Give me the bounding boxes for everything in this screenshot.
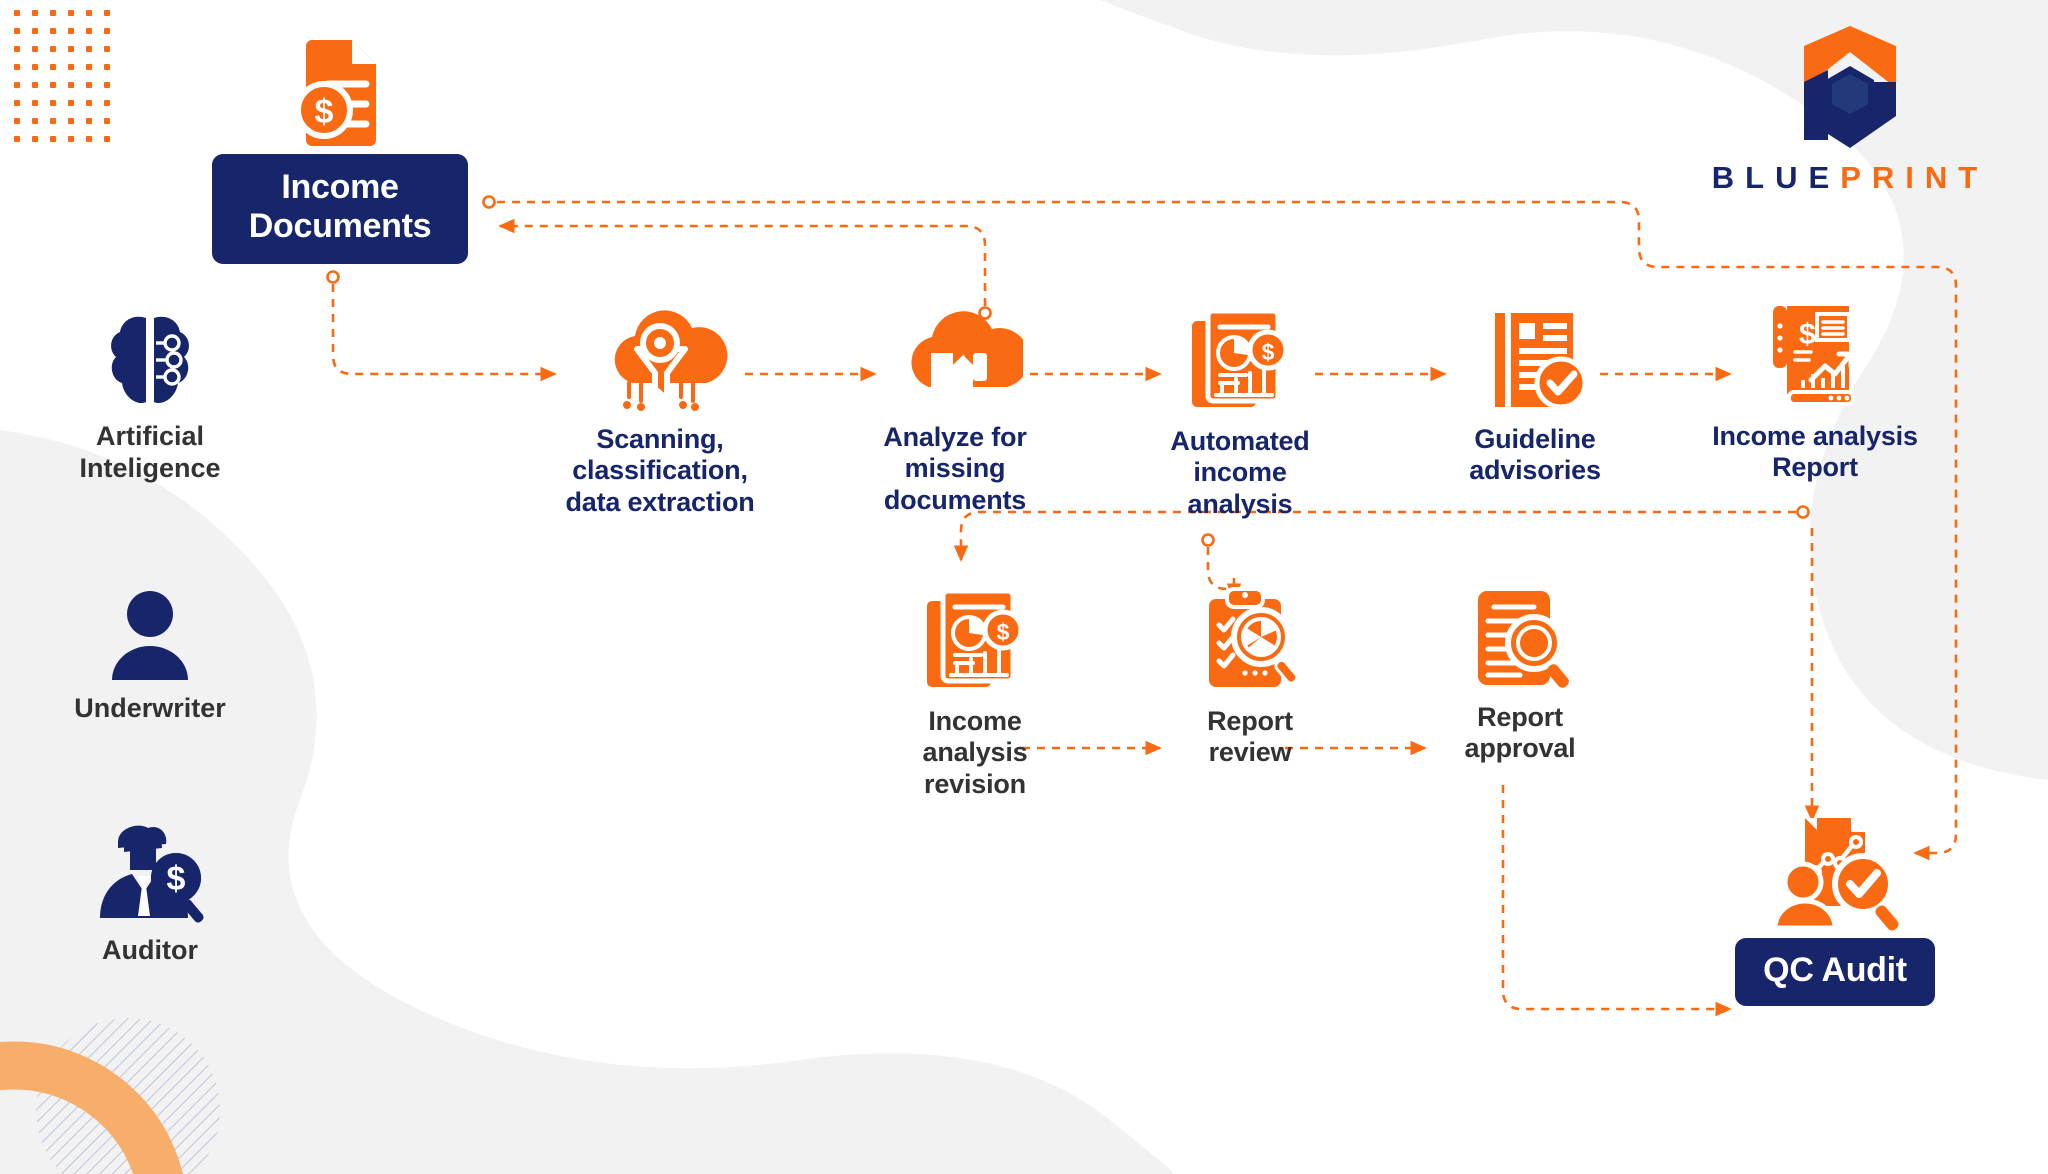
qc-audit-badge[interactable]: QC Audit xyxy=(1735,938,1935,1006)
auditor-magnifier-dollar-icon: $ xyxy=(94,822,206,926)
diagram-canvas: BLUEPRINT Artificial Inteligence Underwr… xyxy=(0,0,2048,1174)
step-label-line: advisories xyxy=(1469,455,1601,485)
persona-auditor[interactable]: $ Auditor xyxy=(40,822,260,966)
step-label-line: analysis xyxy=(1188,489,1293,519)
brain-circuit-icon xyxy=(104,310,196,412)
step-label-line: Analyze for xyxy=(883,422,1026,452)
step-label-line: review xyxy=(1209,737,1292,767)
blueprint-logo: BLUEPRINT xyxy=(1700,22,2000,196)
step-label-line: data extraction xyxy=(565,487,754,517)
svg-text:$: $ xyxy=(315,93,334,131)
step-label-line: missing xyxy=(905,453,1006,483)
step-label-line: Report xyxy=(1207,706,1293,736)
svg-text:$: $ xyxy=(1799,318,1816,351)
report-charts-dollar-icon: $ xyxy=(919,585,1031,697)
step-label-line: Income analysis xyxy=(1712,421,1918,451)
step-label-line: income xyxy=(1193,457,1286,487)
node-income-analysis-revision[interactable]: $ Income analysis revision xyxy=(880,585,1070,800)
svg-text:$: $ xyxy=(1262,339,1275,365)
income-documents-badge[interactable]: Income Documents xyxy=(212,154,468,264)
node-report-approval[interactable]: Report approval xyxy=(1430,585,1610,765)
node-analyze-for-missing-documents[interactable]: Analyze for missing documents xyxy=(855,305,1055,516)
svg-text:$: $ xyxy=(997,619,1010,645)
persona-label-line1: Underwriter xyxy=(74,693,226,723)
document-dollar-icon-wrap: $ xyxy=(292,36,388,148)
report-growth-dollar-icon: $ xyxy=(1759,300,1871,412)
node-automated-income-analysis[interactable]: $ Automated income analysis xyxy=(1145,305,1335,520)
logo-text-blue: BLUE xyxy=(1712,160,1840,196)
step-label-line: Report xyxy=(1477,702,1563,732)
step-label-line: revision xyxy=(924,769,1026,799)
persona-label-line1: Artificial xyxy=(96,421,204,451)
document-check-icon xyxy=(1483,305,1587,415)
svg-text:$: $ xyxy=(167,860,186,898)
node-qc-audit[interactable]: QC Audit xyxy=(1735,810,1935,1006)
person-document-check-magnifier-icon xyxy=(1769,810,1901,934)
node-income-documents[interactable]: $ Income Documents xyxy=(212,36,468,264)
node-guideline-advisories[interactable]: Guideline advisories xyxy=(1440,305,1630,487)
step-label-line: Guideline xyxy=(1474,424,1595,454)
clipboard-checklist-magnifier-icon xyxy=(1195,585,1305,697)
logo-text-print: PRINT xyxy=(1840,160,1988,196)
income-documents-label-line2: Documents xyxy=(249,207,431,245)
step-label-line: Income xyxy=(928,706,1021,736)
document-dollar-icon: $ xyxy=(292,36,388,148)
report-charts-dollar-icon: $ xyxy=(1184,305,1296,417)
cloud-gear-funnel-icon xyxy=(589,305,731,415)
step-label-line: Automated xyxy=(1170,426,1309,456)
node-income-analysis-report[interactable]: $ Income analysis xyxy=(1690,300,1940,484)
person-icon xyxy=(104,588,196,684)
step-label-line: documents xyxy=(884,485,1026,515)
persona-underwriter[interactable]: Underwriter xyxy=(40,588,260,724)
income-documents-label-line1: Income xyxy=(281,168,398,206)
persona-label-line1: Auditor xyxy=(102,935,198,965)
step-label-line: classification, xyxy=(572,455,748,485)
cloud-document-alert-icon xyxy=(887,305,1023,413)
step-label-line: approval xyxy=(1465,733,1576,763)
persona-label-line2: Inteligence xyxy=(79,453,220,483)
node-scanning-classification-data-extraction[interactable]: Scanning, classification, data extractio… xyxy=(545,305,775,518)
step-label-line: analysis xyxy=(923,737,1028,767)
blueprint-hexagon-b-logo-icon xyxy=(1788,22,1912,150)
node-report-review[interactable]: Report review xyxy=(1165,585,1335,769)
persona-artificial-intelligence[interactable]: Artificial Inteligence xyxy=(40,310,260,485)
step-label-line: Report xyxy=(1772,452,1858,482)
dot-grid-decoration xyxy=(14,10,122,154)
document-magnifier-icon xyxy=(1464,585,1576,693)
step-label-line: Scanning, xyxy=(596,424,723,454)
